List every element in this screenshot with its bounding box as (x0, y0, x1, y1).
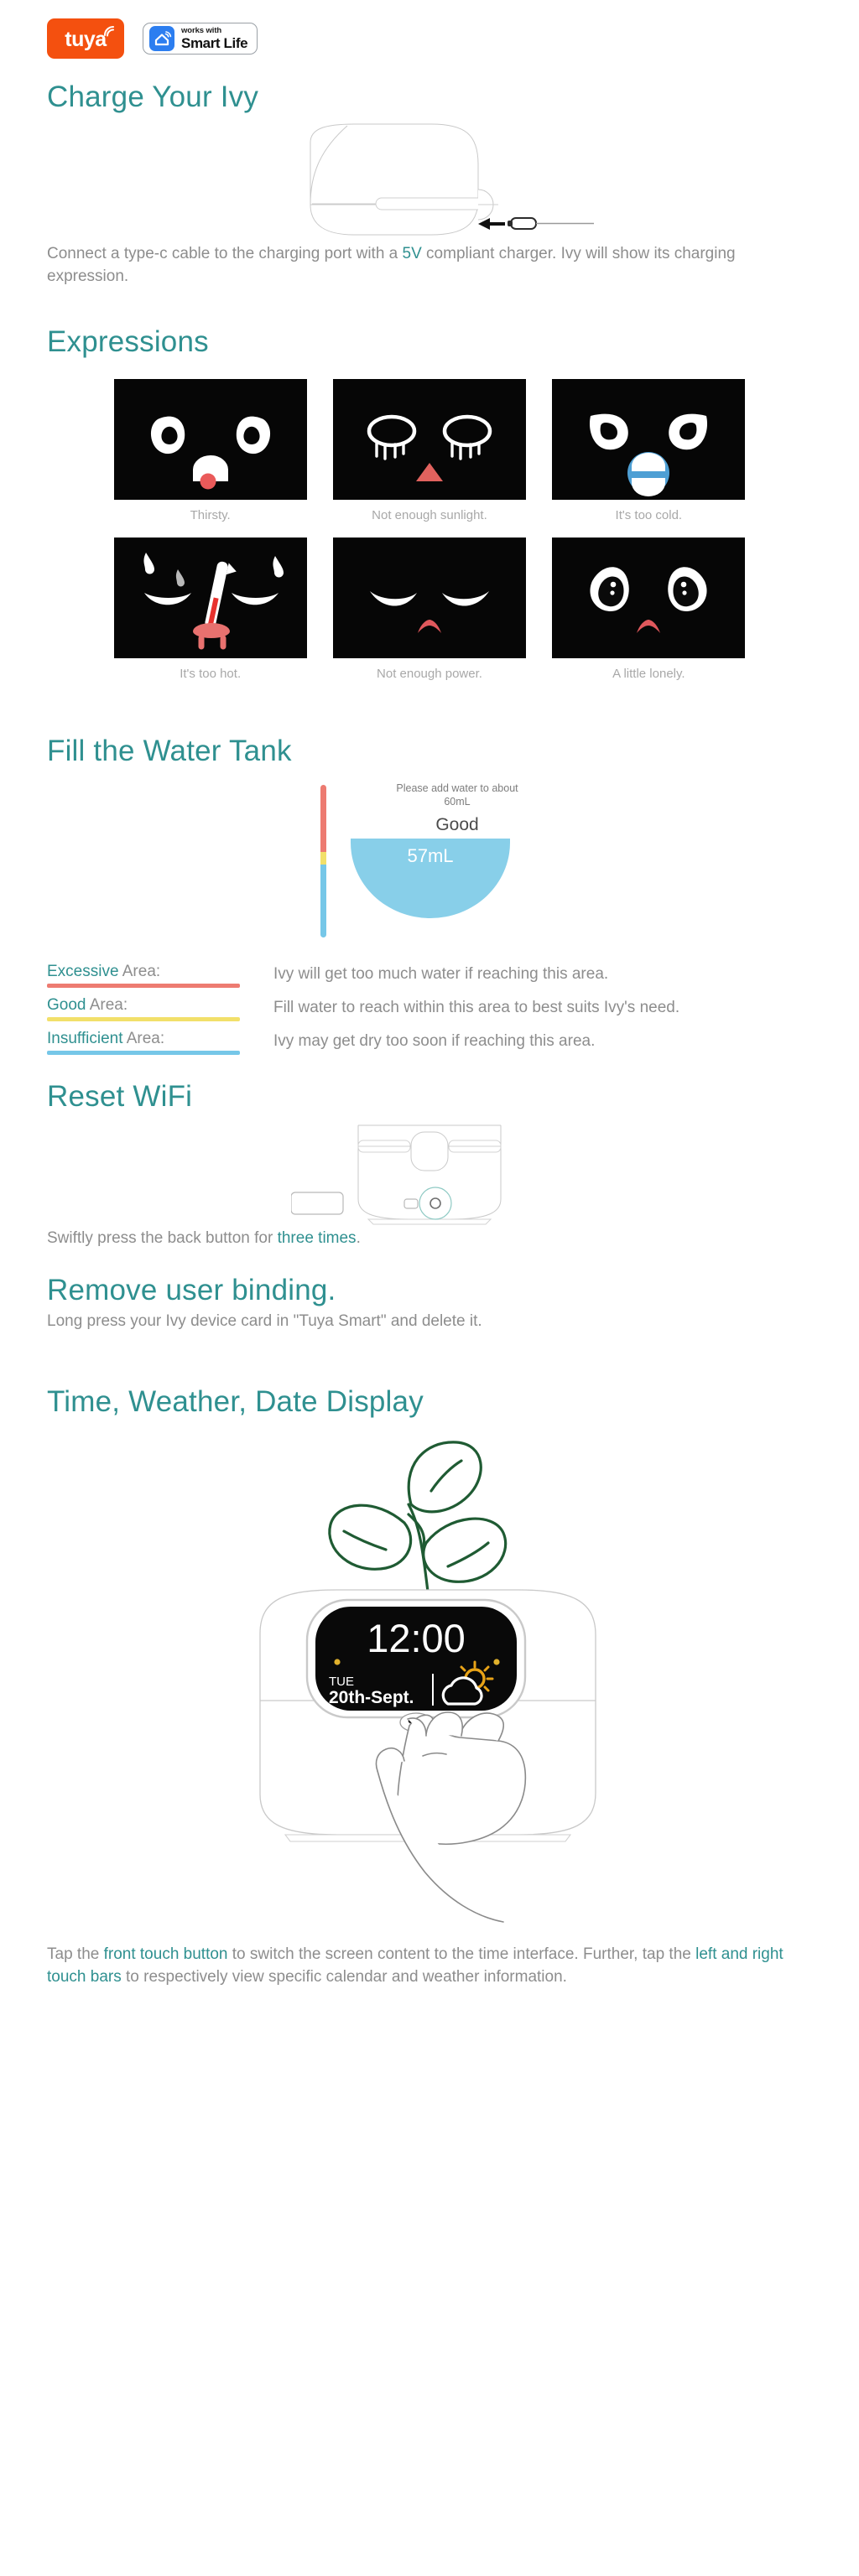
charge-illustration (0, 117, 859, 243)
product-manual-page: tuya works with Smart Life Charge Your I… (0, 0, 859, 2576)
too-cold-face (552, 379, 745, 500)
legend-key: Good Area: (47, 996, 273, 1021)
indicator-insufficient-zone (320, 865, 326, 937)
reset-wifi-illustration (0, 1119, 859, 1228)
expression-label: Not enough power. (333, 667, 526, 681)
legend-value: Fill water to reach within this area to … (273, 996, 812, 1020)
expression-item: It's too hot. (114, 538, 307, 681)
screen-weekday: TUE (329, 1675, 354, 1689)
legend-keyword: Insufficient (47, 1030, 122, 1047)
not-enough-power-face (333, 538, 526, 658)
tuya-wordmark: tuya (65, 29, 106, 50)
section-time-weather-date: Time, Weather, Date Display (0, 1385, 859, 1989)
expression-item: Not enough sunlight. (333, 379, 526, 522)
expression-item: Not enough power. (333, 538, 526, 681)
legend-key-rest: Area: (86, 996, 128, 1014)
legend-row: Excessive Area: Ivy will get too much wa… (47, 963, 812, 988)
screen-date: 20th-Sept. (329, 1688, 414, 1707)
charge-caption-highlight: 5V (403, 245, 422, 262)
smart-home-icon (149, 26, 174, 51)
legend-key: Excessive Area: (47, 963, 273, 988)
indicator-excessive-zone (320, 785, 326, 852)
water-level-indicator (320, 785, 326, 937)
section-charge-your-ivy: Charge Your Ivy (0, 59, 859, 288)
expression-item: Thirsty. (114, 379, 307, 522)
time-display-heading: Time, Weather, Date Display (0, 1385, 859, 1419)
reset-wifi-caption: Swiftly press the back button for three … (0, 1228, 849, 1250)
expressions-grid: Thirsty. Not enough sunlight. (0, 359, 859, 681)
expression-label: A little lonely. (552, 667, 745, 681)
legend-value: Ivy will get too much water if reaching … (273, 963, 812, 986)
water-amount-label: 57mL (351, 845, 510, 867)
charge-heading: Charge Your Ivy (0, 80, 859, 114)
water-tank-heading: Fill the Water Tank (0, 735, 859, 768)
legend-key-rest: Area: (119, 963, 161, 980)
legend-color-bar (47, 1051, 240, 1055)
legend-color-bar (47, 984, 240, 988)
section-remove-user-binding: Remove user binding. Long press your Ivy… (0, 1274, 859, 1333)
plant-illustration (330, 1442, 506, 1592)
brand-logo-row: tuya works with Smart Life (0, 0, 859, 59)
section-expressions: Expressions Thirsty. (0, 325, 859, 681)
legend-keyword: Good (47, 996, 86, 1014)
expression-item: It's too cold. (552, 379, 745, 522)
expression-item: A little lonely. (552, 538, 745, 681)
wifi-wave-icon (103, 25, 117, 37)
legend-row: Good Area: Fill water to reach within th… (47, 996, 812, 1021)
legend-key: Insufficient Area: (47, 1030, 273, 1055)
section-fill-water-tank: Fill the Water Tank Please add water to … (0, 735, 859, 1055)
tuya-logo: tuya (47, 18, 124, 59)
water-status-label: Good (352, 815, 562, 835)
legend-keyword: Excessive (47, 963, 119, 980)
reset-wifi-heading: Reset WiFi (0, 1080, 859, 1114)
legend-color-bar (47, 1017, 240, 1021)
water-hint-line-2: 60mL (352, 795, 562, 808)
left-touch-bar-dot (334, 1659, 340, 1665)
screen-time: 12:00 (367, 1616, 466, 1660)
legend-key-rest: Area: (122, 1030, 164, 1047)
expressions-heading: Expressions (0, 325, 859, 359)
reset-wifi-caption-highlight: three times (278, 1229, 357, 1247)
charge-caption-part-1: Connect a type-c cable to the charging p… (47, 245, 403, 262)
not-enough-sunlight-face (333, 379, 526, 500)
time-caption-part-1: Tap the (47, 1945, 104, 1963)
insert-arrow-icon (478, 218, 505, 230)
legend-row: Insufficient Area: Ivy may get dry too s… (47, 1030, 812, 1055)
works-with-smart-life-badge: works with Smart Life (143, 23, 258, 55)
time-caption-highlight-1: front touch button (104, 1945, 228, 1963)
water-tank-illustration: Please add water to about 60mL Good 57mL (0, 780, 859, 948)
thirsty-face (114, 379, 307, 500)
time-display-caption: Tap the front touch button to switch the… (0, 1944, 849, 1989)
remove-binding-caption: Long press your Ivy device card in "Tuya… (0, 1311, 849, 1333)
expression-label: Not enough sunlight. (333, 508, 526, 522)
a-little-lonely-face (552, 538, 745, 658)
badge-small-text: works with (181, 27, 247, 35)
time-caption-part-3: to switch the screen content to the time… (228, 1945, 696, 1963)
back-button (430, 1198, 440, 1208)
remove-binding-heading: Remove user binding. (0, 1274, 859, 1307)
expression-label: Thirsty. (114, 508, 307, 522)
too-hot-face (114, 538, 307, 658)
right-touch-bar-dot (493, 1659, 499, 1665)
charge-caption: Connect a type-c cable to the charging p… (0, 243, 849, 288)
expression-label: It's too hot. (114, 667, 307, 681)
reset-wifi-caption-part-1: Swiftly press the back button for (47, 1229, 278, 1247)
time-caption-part-5: to respectively view specific calendar a… (122, 1968, 567, 1986)
expression-label: It's too cold. (552, 508, 745, 522)
section-reset-wifi: Reset WiFi Swiftly press the (0, 1080, 859, 1250)
time-display-illustration: 12:00 TUE 20th-Sept. (0, 1424, 859, 1944)
badge-big-text: Smart Life (181, 36, 247, 50)
legend-value: Ivy may get dry too soon if reaching thi… (273, 1030, 812, 1053)
indicator-good-zone (320, 852, 326, 865)
water-hint: Please add water to about 60mL (352, 782, 562, 809)
water-hint-line-1: Please add water to about (352, 782, 562, 795)
water-legend: Excessive Area: Ivy will get too much wa… (0, 963, 859, 1055)
reset-wifi-caption-part-3: . (357, 1229, 361, 1247)
